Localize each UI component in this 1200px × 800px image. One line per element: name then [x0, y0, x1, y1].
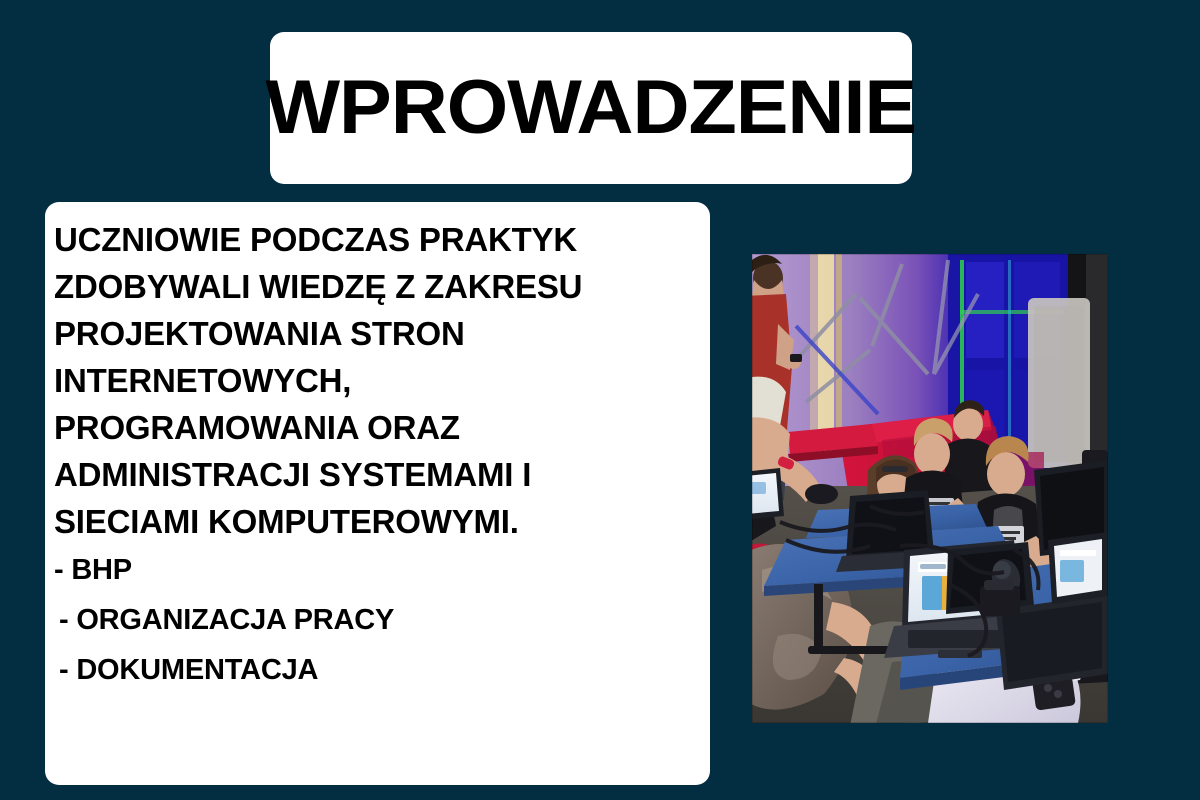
body-text-content: UCZNIOWIE PODCZAS PRAKTYK ZDOBYWALI WIED… — [45, 216, 710, 695]
paragraph-line: SIECIAMI KOMPUTEROWYMI. — [45, 498, 710, 545]
paragraph-line: INTERNETOWYCH, — [45, 357, 710, 404]
laptop-left — [752, 468, 784, 520]
bullet-item: - BHP — [45, 545, 710, 595]
bullet-item: - DOKUMENTACJA — [45, 645, 710, 695]
paragraph-line: ADMINISTRACJI SYSTEMAMI I — [45, 451, 710, 498]
page-title: WPROWADZENIE — [266, 70, 917, 146]
laptop-far-right-screen — [1048, 532, 1108, 604]
body-text-card: UCZNIOWIE PODCZAS PRAKTYK ZDOBYWALI WIED… — [45, 202, 710, 785]
paragraph-line: UCZNIOWIE PODCZAS PRAKTYK — [45, 216, 710, 263]
paragraph-line: PROGRAMOWANIA ORAZ — [45, 404, 710, 451]
paragraph-line: ZDOBYWALI WIEDZĘ Z ZAKRESU — [45, 263, 710, 310]
title-card: WPROWADZENIE — [270, 32, 912, 184]
paragraph-line: PROJEKTOWANIA STRON — [45, 310, 710, 357]
slide-root: WPROWADZENIE UCZNIOWIE PODCZAS PRAKTYK Z… — [0, 0, 1200, 800]
bullet-item: - ORGANIZACJA PRACY — [45, 595, 710, 645]
photo-illustration — [752, 254, 1108, 723]
classroom-photo — [752, 254, 1108, 723]
